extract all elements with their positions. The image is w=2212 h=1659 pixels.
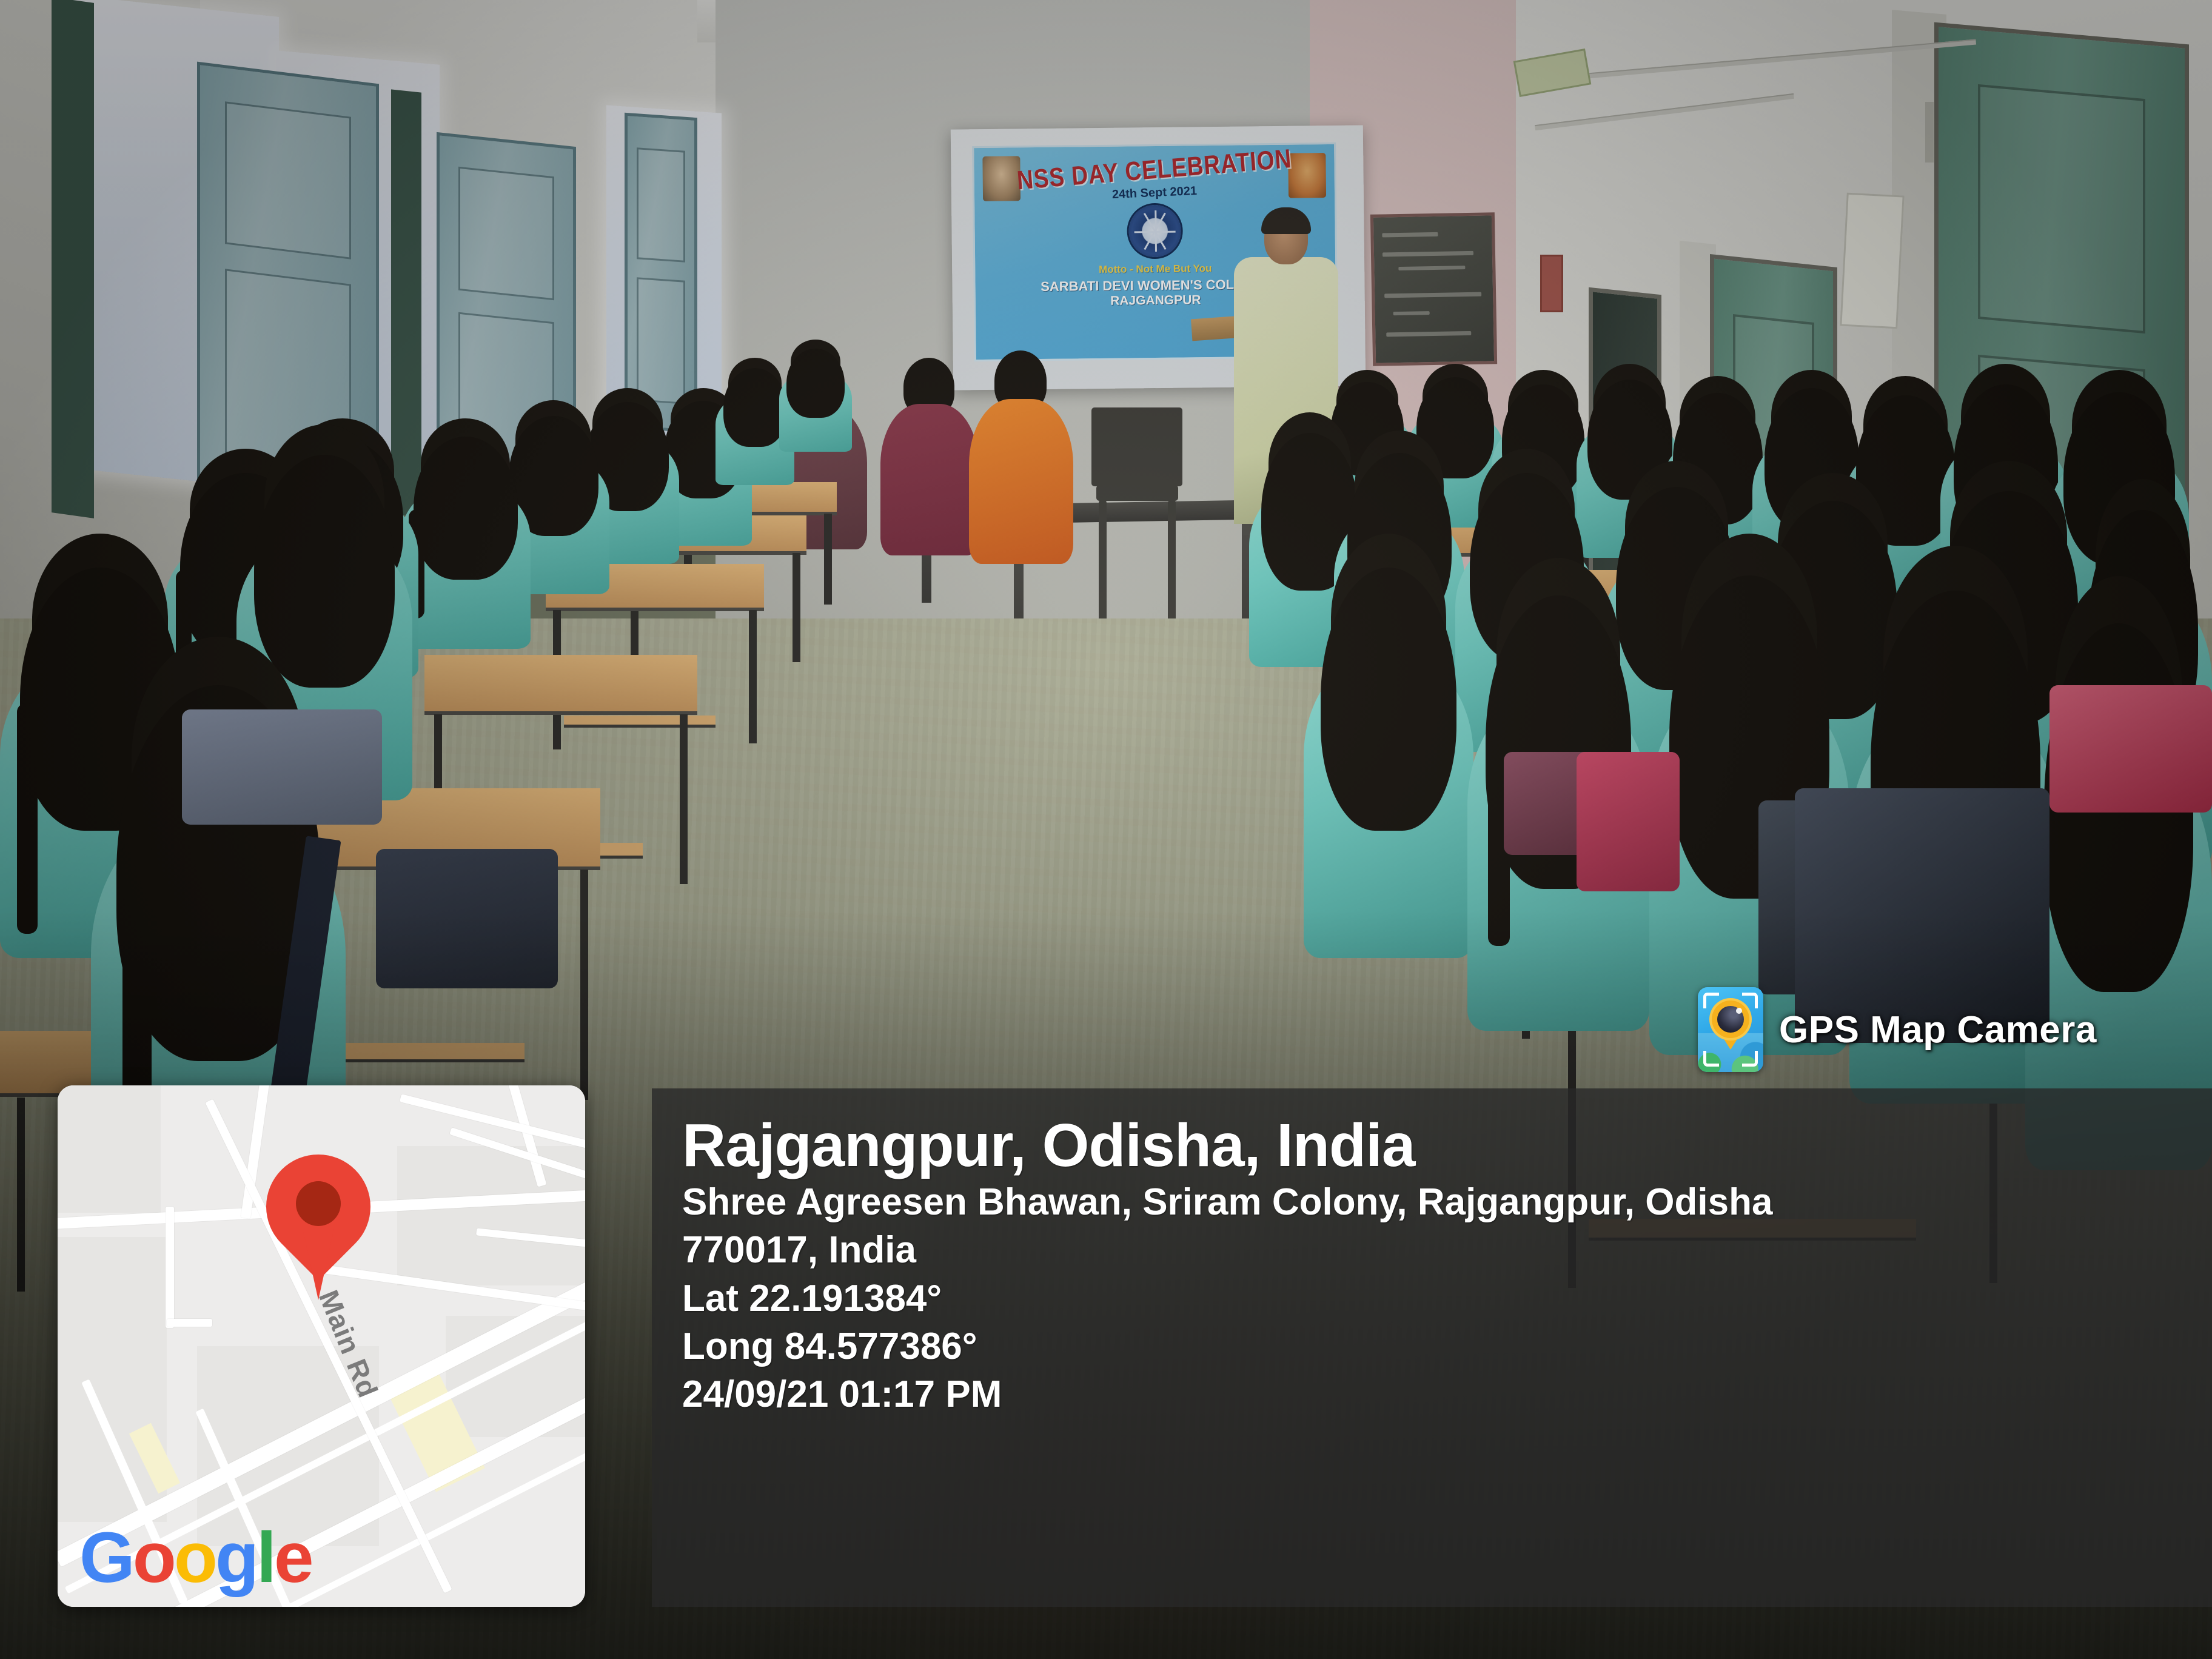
student xyxy=(779,340,852,452)
google-logo-letter-e: e xyxy=(274,1522,312,1594)
blackboard xyxy=(1370,212,1497,366)
banner-date: 24th Sept 2021 xyxy=(1111,184,1197,202)
location-address-line-1: Shree Agreesen Bhawan, Sriram Colony, Ra… xyxy=(682,1178,2212,1226)
location-timestamp: 24/09/21 01:17 PM xyxy=(682,1370,2212,1418)
nss-emblem-icon xyxy=(1128,205,1181,258)
pink-bag xyxy=(1577,752,1680,891)
student xyxy=(2025,576,2212,1170)
map-thumbnail-card[interactable]: Main Rd Google xyxy=(58,1085,585,1607)
google-logo-letter-G: G xyxy=(79,1522,133,1594)
location-longitude: Long 84.577386° xyxy=(682,1322,2212,1370)
student xyxy=(1304,534,1473,958)
gps-map-camera-label: GPS Map Camera xyxy=(1779,1008,2097,1051)
handbag xyxy=(182,709,382,825)
backpack xyxy=(376,849,558,988)
location-address-line-2: 770017, India xyxy=(682,1226,2212,1274)
gps-map-camera-icon xyxy=(1698,987,1763,1072)
banner-portrait-left xyxy=(982,156,1021,201)
google-logo: Google xyxy=(79,1522,312,1594)
gps-camera-photo: NSS DAY CELEBRATION 24th Sept 2021 Motto… xyxy=(0,0,2212,1659)
location-latitude: Lat 22.191384° xyxy=(682,1275,2212,1322)
pink-cloth xyxy=(2049,685,2212,813)
window-shutter-3 xyxy=(625,113,697,433)
empty-chair-back xyxy=(1091,407,1182,486)
banner-motto: Motto - Not Me But You xyxy=(1099,263,1212,276)
google-logo-letter-l: l xyxy=(256,1522,274,1594)
guest-2-body xyxy=(969,399,1073,564)
ceiling-hook xyxy=(1925,102,1934,163)
guest-1-body xyxy=(880,404,979,555)
banner-city: RAJGANGPUR xyxy=(1110,293,1201,309)
location-info-panel: Rajgangpur, Odisha, India Shree Agreesen… xyxy=(652,1088,2212,1607)
banner-portrait-right xyxy=(1288,153,1326,198)
google-logo-letter-g: g xyxy=(215,1522,256,1594)
google-logo-letter-o2: o xyxy=(174,1522,215,1594)
map-pin-marker xyxy=(258,1146,379,1267)
switch-box xyxy=(1840,193,1904,329)
map-canvas: Main Rd Google xyxy=(58,1085,585,1607)
gps-map-camera-watermark: GPS Map Camera xyxy=(1698,987,2097,1072)
location-title: Rajgangpur, Odisha, India xyxy=(682,1113,2212,1178)
student xyxy=(400,418,531,649)
empty-chair-seat xyxy=(1096,485,1178,501)
wall-socket xyxy=(1540,255,1563,312)
window-frame-1 xyxy=(52,0,94,518)
google-logo-letter-o1: o xyxy=(133,1522,174,1594)
